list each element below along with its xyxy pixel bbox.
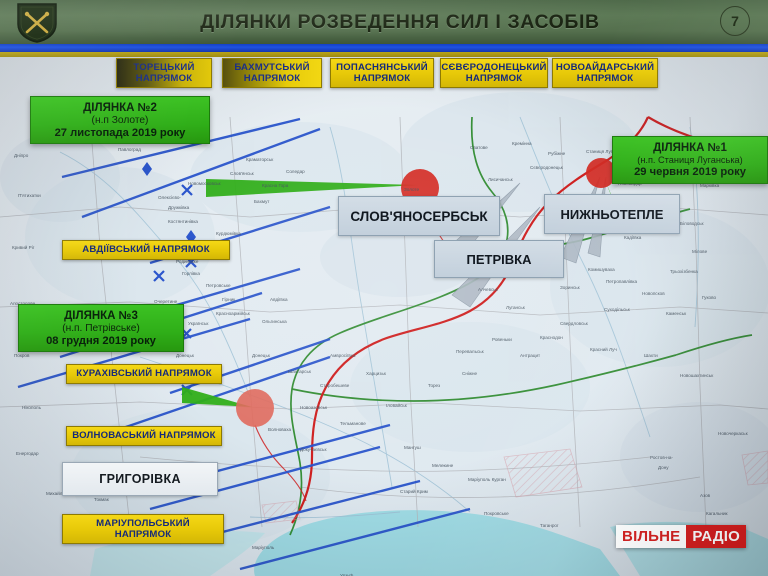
callout-dilyanka-3[interactable]: ДІЛЯНКА №3 (н.п. Петрівське) 08 грудня 2… bbox=[18, 304, 184, 352]
svg-text:Кадіївка: Кадіївка bbox=[624, 235, 642, 240]
svg-text:Українськ: Українськ bbox=[188, 321, 209, 326]
tab-novoaidarskyi-napryamok[interactable]: НОВОАЙДАРСЬКИЙ НАПРЯМОК bbox=[552, 58, 658, 88]
callout-dilyanka-2[interactable]: ДІЛЯНКА №2 (н.п Золоте) 27 листопада 201… bbox=[30, 96, 210, 144]
svg-text:Тельманове: Тельманове bbox=[340, 421, 366, 426]
svg-text:Амвросіївка: Амвросіївка bbox=[330, 353, 356, 358]
svg-text:Костянтинівка: Костянтинівка bbox=[168, 219, 198, 224]
tab-label-line1: НОВОАЙДАРСЬКИЙ bbox=[556, 62, 654, 73]
svg-text:Каменськ: Каменськ bbox=[666, 311, 687, 316]
svg-text:Токмак: Токмак bbox=[94, 497, 110, 502]
svg-text:Перевальськ: Перевальськ bbox=[456, 349, 485, 354]
svg-text:Енергодар: Енергодар bbox=[16, 451, 39, 456]
watermark-vilne-radio: ВІЛЬНЕ РАДІО bbox=[616, 525, 746, 548]
svg-text:Торез: Торез bbox=[428, 383, 440, 388]
svg-text:Волноваха: Волноваха bbox=[268, 427, 291, 432]
svg-text:Шахтарськ: Шахтарськ bbox=[288, 369, 312, 374]
callout-place: (н.п Золоте) bbox=[92, 115, 149, 126]
tab-label-line1: АВДІЇВСЬКИЙ НАПРЯМОК bbox=[82, 244, 210, 255]
tab-label-line1: КУРАХІВСЬКИЙ НАПРЯМОК bbox=[76, 368, 212, 379]
svg-text:Ольгинська: Ольгинська bbox=[262, 319, 287, 324]
tab-label-line1: МАРІУПОЛЬСЬКИЙ bbox=[96, 518, 190, 529]
callout-date: 08 грудня 2019 року bbox=[46, 335, 156, 347]
city-label-text: ПЕТРІВКА bbox=[467, 252, 532, 267]
svg-text:Бахмут: Бахмут bbox=[254, 199, 270, 204]
svg-text:Луганськ: Луганськ bbox=[506, 305, 526, 310]
svg-text:Міловe: Міловe bbox=[692, 249, 708, 254]
svg-text:Красна Гора: Красна Гора bbox=[262, 183, 289, 188]
svg-text:Харцизьк: Харцизьк bbox=[366, 371, 387, 376]
callout-title: ДІЛЯНКА №3 bbox=[64, 310, 138, 322]
svg-text:Донецьк: Донецьк bbox=[252, 353, 271, 358]
tab-label-line2: НАПРЯМОК bbox=[136, 73, 193, 84]
tab-label-line2: НАПРЯМОК bbox=[244, 73, 301, 84]
page-title: ДІЛЯНКИ РОЗВЕДЕННЯ СИЛ І ЗАСОБІВ bbox=[120, 0, 680, 44]
svg-text:Маріуполь: Маріуполь bbox=[252, 545, 275, 550]
svg-text:Олексієво-: Олексієво- bbox=[158, 195, 181, 200]
military-shield-crossed-swords-icon bbox=[14, 2, 60, 44]
slide-header: ДІЛЯНКИ РОЗВЕДЕННЯ СИЛ І ЗАСОБІВ 7 bbox=[0, 0, 768, 44]
svg-text:Шахти: Шахти bbox=[644, 353, 658, 358]
svg-text:Біловодськ: Біловодськ bbox=[680, 221, 705, 226]
svg-text:Горлівка: Горлівка bbox=[182, 271, 200, 276]
svg-text:Маріуполь Курган: Маріуполь Курган bbox=[468, 477, 506, 482]
svg-text:Свердловськ: Свердловськ bbox=[560, 321, 589, 326]
callout-date: 27 листопада 2019 року bbox=[55, 127, 186, 139]
svg-text:Новочеркаськ: Новочеркаськ bbox=[718, 431, 749, 436]
svg-text:Петровське: Петровське bbox=[206, 283, 231, 288]
svg-text:Красноармійськ: Красноармійськ bbox=[216, 310, 251, 316]
svg-text:Новомосковськ: Новомосковськ bbox=[188, 181, 222, 186]
tab-sievierodonetskyi-napryamok[interactable]: СЄВЄРОДОНЕЦЬКИЙ НАПРЯМОК bbox=[440, 58, 548, 88]
svg-text:Лисичанськ: Лисичанськ bbox=[488, 177, 514, 182]
page-number-badge: 7 bbox=[720, 6, 750, 36]
svg-text:Суходільськ: Суходільськ bbox=[604, 307, 631, 312]
svg-text:Зоринськ: Зоринськ bbox=[560, 285, 581, 290]
tab-popasnyanskyi-napryamok[interactable]: ПОПАСНЯНСЬКИЙ НАПРЯМОК bbox=[330, 58, 434, 88]
tab-label-line2: НАПРЯМОК bbox=[577, 73, 634, 84]
svg-text:Новопсков: Новопсков bbox=[642, 291, 665, 296]
svg-text:Красний Луч: Красний Луч bbox=[590, 346, 617, 352]
svg-text:Кремінна: Кремінна bbox=[512, 141, 532, 146]
svg-text:Покровське: Покровське bbox=[484, 511, 509, 516]
svg-text:Ровеньки: Ровеньки bbox=[492, 337, 512, 342]
svg-text:Трьохізбенка: Трьохізбенка bbox=[670, 269, 698, 274]
tab-label-line1: БАХМУТСЬКИЙ bbox=[234, 62, 309, 73]
watermark-part-radio: РАДІО bbox=[686, 525, 746, 548]
city-label-slovyanoserbsk[interactable]: СЛОВ'ЯНОСЕРБСЬК bbox=[338, 196, 500, 236]
tab-label-line2: НАПРЯМОК bbox=[466, 73, 523, 84]
label-hryhorivka[interactable]: ГРИГОРІВКА bbox=[62, 462, 218, 496]
svg-text:Кагальник: Кагальник bbox=[706, 511, 729, 516]
svg-text:Слов'янськ: Слов'янськ bbox=[230, 171, 255, 176]
svg-text:Антрацит: Антрацит bbox=[520, 353, 541, 358]
svg-text:Мангуш: Мангуш bbox=[404, 445, 421, 450]
presentation-slide: ДІЛЯНКИ РОЗВЕДЕННЯ СИЛ І ЗАСОБІВ 7 bbox=[0, 0, 768, 576]
svg-text:Іловайськ: Іловайськ bbox=[386, 402, 408, 408]
svg-text:Ростов-на-: Ростов-на- bbox=[650, 455, 673, 460]
svg-text:Дружківка: Дружківка bbox=[168, 205, 190, 210]
svg-text:Гірник: Гірник bbox=[222, 297, 236, 302]
svg-text:Рубіжне: Рубіжне bbox=[548, 151, 566, 156]
svg-text:Сніжне: Сніжне bbox=[462, 371, 477, 376]
tab-label-line1: ТОРЕЦЬКИЙ bbox=[133, 62, 194, 73]
tab-kurakhivskyi-napryamok[interactable]: КУРАХІВСЬКИЙ НАПРЯМОК bbox=[66, 364, 222, 384]
svg-text:Курдюмівка: Курдюмівка bbox=[216, 231, 241, 236]
city-label-text: СЛОВ'ЯНОСЕРБСЬК bbox=[350, 209, 487, 224]
callout-title: ДІЛЯНКА №2 bbox=[83, 102, 157, 114]
svg-text:Покров: Покров bbox=[14, 353, 30, 358]
svg-text:Новоазовськ: Новоазовськ bbox=[300, 405, 328, 410]
tab-label-line2: НАПРЯМОК bbox=[354, 73, 411, 84]
tab-bakhmutskyi-napryamok[interactable]: БАХМУТСЬКИЙ НАПРЯМОК bbox=[222, 58, 322, 88]
tab-label-line1: ПОПАСНЯНСЬКИЙ bbox=[336, 62, 428, 73]
callout-dilyanka-1[interactable]: ДІЛЯНКА №1 (н.п. Станиця Луганська) 29 ч… bbox=[612, 136, 768, 184]
tab-volnovaskyi-napryamok[interactable]: ВОЛНОВАСЬКИЙ НАПРЯМОК bbox=[66, 426, 222, 446]
svg-text:Старобешеве: Старобешеве bbox=[320, 383, 350, 388]
callout-place: (н.п. Петрівське) bbox=[62, 323, 140, 334]
flag-stripe-blue bbox=[0, 44, 768, 52]
watermark-part-vilne: ВІЛЬНЕ bbox=[616, 525, 686, 548]
svg-text:Краснодон: Краснодон bbox=[540, 335, 563, 340]
svg-text:Таганрог: Таганрог bbox=[540, 523, 559, 528]
tab-avdiivskyi-napryamok[interactable]: АВДІЇВСЬКИЙ НАПРЯМОК bbox=[62, 240, 230, 260]
tab-label-line2: НАПРЯМОК bbox=[115, 529, 172, 540]
svg-text:Донецьк: Донецьк bbox=[176, 353, 195, 358]
svg-text:Комишуваха: Комишуваха bbox=[588, 267, 615, 272]
svg-text:Мелекине: Мелекине bbox=[432, 463, 454, 468]
tab-toretskyi-napryamok[interactable]: ТОРЕЦЬКИЙ НАПРЯМОК bbox=[116, 58, 212, 88]
svg-text:Краматорськ: Краматорськ bbox=[246, 157, 274, 162]
white-label-text: ГРИГОРІВКА bbox=[99, 472, 181, 486]
tab-mariupolskyi-napryamok[interactable]: МАРІУПОЛЬСЬКИЙ НАПРЯМОК bbox=[62, 514, 224, 544]
svg-text:Алчевськ: Алчевськ bbox=[478, 287, 499, 292]
callout-date: 29 червня 2019 року bbox=[634, 166, 746, 178]
svg-text:Авдіївка: Авдіївка bbox=[270, 297, 288, 302]
svg-text:Сватове: Сватове bbox=[470, 145, 488, 150]
callout-place: (н.п. Станиця Луганська) bbox=[637, 155, 742, 165]
tab-label-line1: ВОЛНОВАСЬКИЙ НАПРЯМОК bbox=[72, 430, 216, 441]
svg-text:Павлоград: Павлоград bbox=[118, 147, 141, 152]
city-label-text: НИЖНЬОТЕПЛЕ bbox=[561, 207, 664, 222]
tab-label-line1: СЄВЄРОДОНЕЦЬКИЙ bbox=[441, 62, 546, 73]
svg-text:Азов: Азов bbox=[700, 493, 711, 498]
svg-text:Старий Крим: Старий Крим bbox=[400, 488, 428, 494]
svg-text:П'ятихатки: П'ятихатки bbox=[18, 193, 41, 198]
svg-text:Золоте: Золоте bbox=[404, 187, 419, 192]
svg-text:Петропавлівка: Петропавлівка bbox=[606, 279, 638, 284]
svg-text:Кривий Ріг: Кривий Ріг bbox=[12, 244, 35, 250]
svg-text:Новошахтинськ: Новошахтинськ bbox=[680, 373, 714, 378]
callout-title: ДІЛЯНКА №1 bbox=[653, 142, 727, 154]
svg-text:Дону: Дону bbox=[658, 465, 669, 470]
svg-text:Сєвєродонецьк: Сєвєродонецьк bbox=[530, 165, 564, 170]
svg-text:Докучаєвськ: Докучаєвськ bbox=[300, 447, 327, 452]
svg-text:Дніпро: Дніпро bbox=[14, 153, 29, 158]
svg-text:Соледар: Соледар bbox=[286, 169, 305, 174]
city-label-nyzhnotepl[interactable]: НИЖНЬОТЕПЛЕ bbox=[544, 194, 680, 234]
svg-text:Нікополь: Нікополь bbox=[22, 405, 42, 410]
marker-petrivske bbox=[236, 389, 274, 427]
city-label-petrivka[interactable]: ПЕТРІВКА bbox=[434, 240, 564, 278]
svg-text:Гуково: Гуково bbox=[702, 295, 716, 300]
